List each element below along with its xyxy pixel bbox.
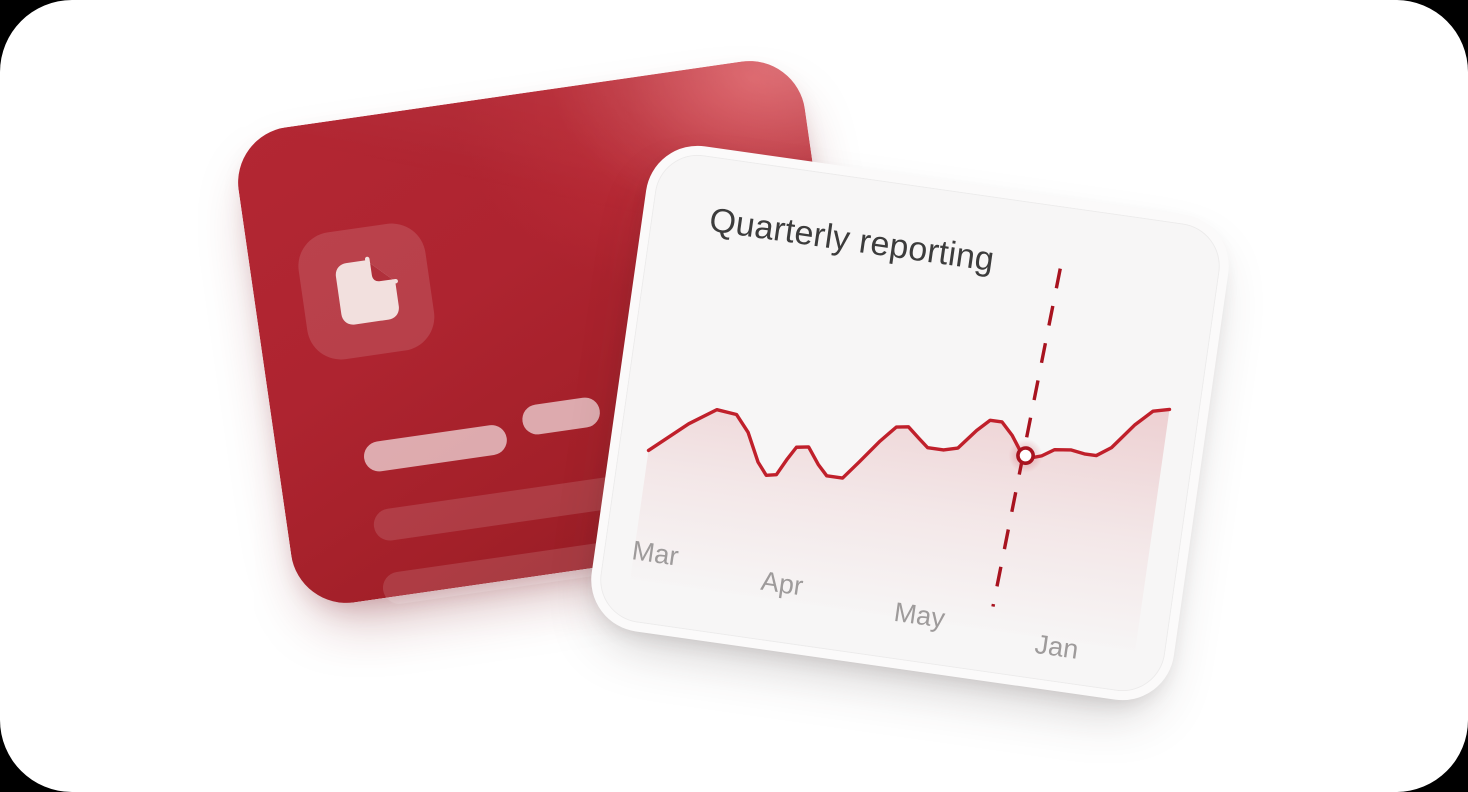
highlight-point-marker[interactable] [1017, 447, 1034, 464]
document-icon-tile[interactable] [294, 219, 439, 364]
document-icon [325, 250, 407, 334]
area-chart [595, 149, 1226, 697]
chart-card[interactable]: Quarterly reporting [584, 139, 1235, 707]
canvas: Quarterly reporting [0, 0, 1468, 792]
placeholder-bar [362, 423, 509, 473]
placeholder-bar [520, 396, 601, 437]
chart-area-fill [630, 338, 1169, 651]
